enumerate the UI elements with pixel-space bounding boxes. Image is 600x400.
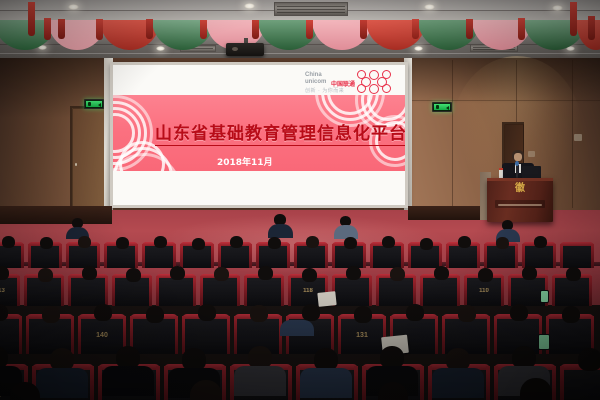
attendee-head	[40, 237, 53, 249]
ceiling-projector	[226, 43, 264, 56]
attendee-head	[420, 238, 433, 250]
handout-paper	[317, 291, 336, 307]
audience: 113 118 110	[0, 200, 600, 400]
attendee-shoulders	[280, 320, 314, 336]
attendee-head	[78, 236, 91, 248]
attendee-head	[510, 304, 528, 321]
drape-tail	[570, 2, 577, 36]
attendee-head	[250, 305, 268, 322]
drape-tail	[252, 20, 259, 39]
drape-tail	[518, 18, 525, 40]
wall-plate	[574, 134, 582, 141]
microphone	[516, 164, 518, 178]
exit-sign-left	[84, 99, 104, 109]
attendee-head	[198, 304, 216, 321]
attendee-head	[562, 306, 580, 323]
theater-seat[interactable]	[560, 242, 594, 268]
attendee-head	[344, 237, 357, 249]
wall-seam	[452, 60, 453, 220]
wall-seam	[404, 100, 600, 101]
slide-title: 山东省基础教育管理信息化平台	[155, 119, 405, 146]
drape-tail	[146, 19, 153, 39]
attendee-head	[192, 238, 205, 250]
attendee-head	[154, 236, 167, 248]
attendee-head	[2, 236, 15, 248]
slide-title-underline	[155, 145, 405, 146]
mobile-phone[interactable]	[538, 334, 550, 350]
attendee-head	[302, 268, 317, 282]
attendee-head	[578, 348, 600, 371]
mobile-phone[interactable]	[540, 290, 549, 303]
attendee-head	[534, 236, 547, 248]
microphone-head	[515, 161, 519, 166]
recessed-downlight	[244, 3, 255, 9]
slide-title-text: 山东省基础教育管理信息化平台	[155, 124, 405, 144]
attendee-shoulders	[234, 366, 286, 396]
exit-sign-right	[432, 102, 452, 112]
drape-tail	[466, 19, 473, 39]
logo-tagline: 创新 · 为你而来	[305, 87, 344, 94]
attendee-head	[170, 266, 185, 280]
drape-tail	[588, 16, 595, 40]
attendee-head	[258, 266, 273, 280]
attendee-head	[0, 266, 9, 280]
attendee-head	[126, 268, 141, 282]
podium-emblem-icon: 徽	[513, 184, 527, 194]
attendee-head	[458, 305, 476, 322]
slide-banner: 山东省基础教育管理信息化平台 2018年11月	[113, 95, 405, 171]
attendee-shoulders	[36, 368, 88, 398]
seat-number: 113	[0, 288, 20, 294]
attendee-shoulders	[432, 368, 484, 398]
seat-number: 140	[78, 332, 126, 339]
drape-tail	[28, 2, 35, 36]
attendee-head	[496, 237, 509, 249]
attendee-shoulders	[268, 224, 293, 238]
wall-shadow	[404, 58, 600, 104]
attendee-head	[268, 237, 281, 249]
wall-seam	[572, 60, 573, 208]
attendee-shoulders	[300, 368, 352, 398]
attendee-head	[230, 236, 243, 248]
drape-tail	[44, 18, 51, 40]
attendee-head	[390, 267, 405, 281]
attendee-shoulders	[102, 366, 154, 396]
attendee-head	[458, 236, 471, 248]
speaker-face	[514, 153, 522, 161]
recessed-downlight	[552, 5, 563, 11]
attendee-head	[146, 306, 164, 323]
drape-tail	[96, 19, 103, 40]
attendee-head	[306, 236, 319, 248]
door-knob[interactable]	[75, 163, 77, 166]
attendee-head	[214, 267, 229, 281]
drape-tail	[200, 20, 207, 39]
attendee-head	[478, 268, 493, 282]
recessed-downlight	[424, 4, 435, 10]
podium-top	[487, 178, 553, 181]
unicom-mark-icon	[357, 70, 391, 94]
air-conditioning-vent	[274, 2, 348, 16]
drape-tail	[306, 20, 313, 39]
attendee-head	[42, 306, 60, 323]
attendee-head	[302, 304, 320, 321]
attendee-head	[406, 304, 424, 321]
drape-tail	[360, 20, 367, 39]
attendee-head	[522, 266, 537, 280]
attendee-head	[566, 267, 581, 281]
auditorium-photo: China unicom 中国联通 创新 · 为你而来	[0, 0, 600, 400]
attendee-head	[520, 378, 552, 400]
seat-number: 131	[338, 332, 386, 339]
bottle-cap	[499, 168, 503, 170]
attendee-head	[94, 304, 112, 321]
slide-date: 2018年11月	[217, 155, 273, 168]
projection-screen: China unicom 中国联通 创新 · 为你而来	[113, 65, 405, 205]
attendee-head	[346, 266, 361, 280]
attendee-head	[38, 268, 53, 282]
attendee-head	[354, 306, 372, 323]
drape-tail	[58, 19, 65, 39]
china-unicom-logo: China unicom 中国联通 创新 · 为你而来	[299, 70, 399, 96]
recessed-downlight	[68, 4, 79, 10]
seat-number: 110	[464, 288, 504, 294]
attendee-head	[434, 266, 449, 280]
attendee-head	[116, 237, 129, 249]
drape-tail	[412, 19, 419, 39]
ceiling	[0, 0, 600, 62]
attendee-head	[382, 236, 395, 248]
attendee-head	[82, 266, 97, 280]
logo-text-line2: unicom	[305, 79, 326, 85]
logo-text-line1: China	[305, 72, 322, 78]
